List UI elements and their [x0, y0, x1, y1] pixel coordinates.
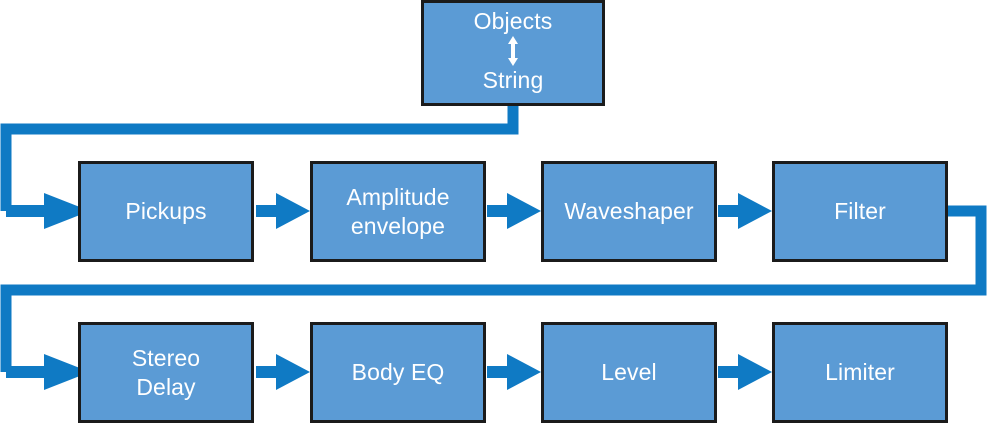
arrow-amplitude-envelope-to-waveshaper	[487, 193, 541, 229]
node-amplitude-envelope[interactable]: Amplitude envelope	[310, 161, 486, 262]
arrow-stereo-delay-to-body-eq	[256, 354, 310, 390]
arrow-pickups-to-amplitude-envelope	[256, 193, 310, 229]
node-body-eq-label: Body EQ	[346, 358, 451, 386]
bidirectional-vertical-arrow-icon	[506, 36, 520, 66]
node-filter-label: Filter	[828, 197, 892, 225]
node-pickups[interactable]: Pickups	[78, 161, 254, 262]
node-level[interactable]: Level	[541, 322, 717, 423]
arrow-level-to-limiter	[718, 354, 772, 390]
node-filter[interactable]: Filter	[772, 161, 948, 262]
node-stereo-delay-label: Stereo Delay	[126, 344, 206, 400]
arrow-body-eq-to-level	[487, 354, 541, 390]
node-pickups-label: Pickups	[119, 197, 212, 225]
node-objects-label: Objects	[424, 7, 602, 35]
node-body-eq[interactable]: Body EQ	[310, 322, 486, 423]
node-amplitude-envelope-label: Amplitude envelope	[340, 183, 455, 239]
node-objects-string[interactable]: Objects String	[421, 0, 605, 106]
node-stereo-delay[interactable]: Stereo Delay	[78, 322, 254, 423]
node-waveshaper[interactable]: Waveshaper	[541, 161, 717, 262]
node-limiter[interactable]: Limiter	[772, 322, 948, 423]
node-limiter-label: Limiter	[819, 358, 901, 386]
node-string-label: String	[424, 66, 602, 94]
node-waveshaper-label: Waveshaper	[558, 197, 699, 225]
arrow-waveshaper-to-filter	[718, 193, 772, 229]
node-level-label: Level	[595, 358, 662, 386]
signal-flow-diagram: Objects String Pickups Amplitude envelop…	[0, 0, 990, 426]
